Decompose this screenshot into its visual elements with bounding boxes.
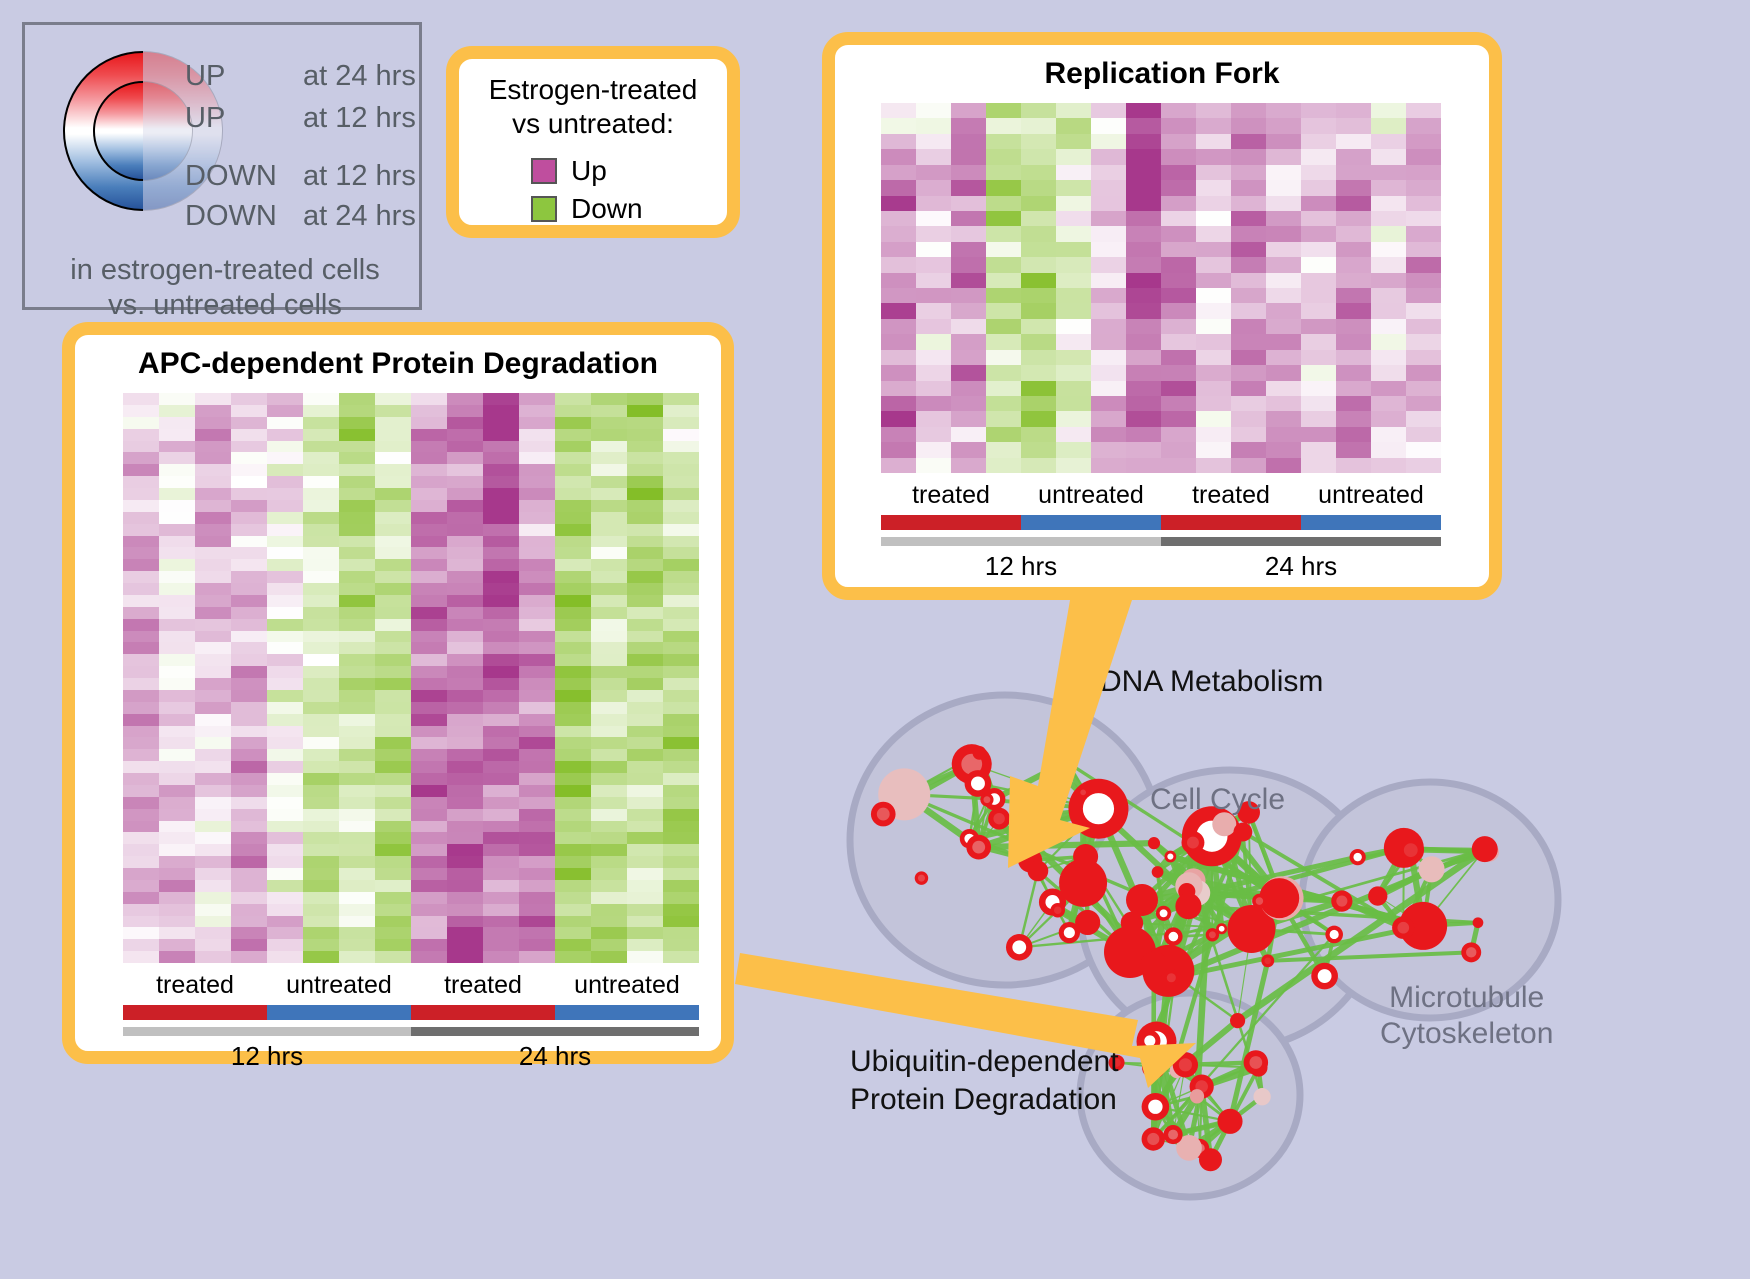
network-node: [1253, 1088, 1270, 1105]
apc-time-labels: 12 hrs 24 hrs: [123, 1035, 699, 1072]
sample-bar-untreated: [1021, 515, 1161, 530]
network-node-core: [984, 796, 991, 803]
legend-item-down: Down: [531, 193, 643, 225]
legend-title: Estrogen-treated vs untreated:: [459, 73, 727, 141]
replication-fork-time-labels: 12 hrs 24 hrs: [881, 545, 1441, 582]
network-node-core: [1256, 897, 1264, 905]
network-node: [1217, 1109, 1242, 1134]
network-node: [1073, 844, 1098, 869]
network-node-core: [1264, 957, 1271, 964]
network-node: [1148, 837, 1160, 849]
network-node-core: [1160, 909, 1168, 917]
network-node: [1199, 1148, 1222, 1171]
key-time-down-24: at 24 hrs: [303, 200, 416, 232]
network-node: [1140, 951, 1167, 978]
network-node-core: [1404, 843, 1418, 857]
network-node: [1175, 893, 1201, 919]
network-node-core: [971, 777, 985, 791]
network-node-core: [1249, 1056, 1262, 1069]
key-label-down-12: DOWN: [185, 161, 303, 191]
network-node-core: [1054, 906, 1062, 914]
network-node-core: [993, 813, 1004, 824]
cluster-label-cell-cycle: Cell Cycle: [1150, 783, 1285, 817]
network-node: [1126, 884, 1158, 916]
apc-panel-title: APC-dependent Protein Degradation: [75, 347, 721, 381]
sample-label: treated: [1161, 481, 1301, 510]
network-edge: [979, 843, 1154, 847]
apc-panel: APC-dependent Protein Degradation treate…: [62, 322, 734, 1064]
sample-bar-treated: [411, 1005, 555, 1020]
time-label-24hrs: 24 hrs: [1161, 545, 1441, 582]
key-label-up-24: UP: [185, 61, 303, 91]
network-node-core: [1179, 1058, 1192, 1071]
sample-bar-untreated: [1301, 515, 1441, 530]
network-node-core: [1219, 926, 1225, 932]
sample-label: treated: [411, 971, 555, 1000]
key-label-down-24: DOWN: [185, 201, 303, 231]
replication-fork-panel: Replication Fork treated untreated treat…: [822, 32, 1502, 600]
network-node-core: [1330, 930, 1339, 939]
network-node-core: [1012, 940, 1026, 954]
sample-label: treated: [123, 971, 267, 1000]
network-node: [1473, 917, 1484, 928]
replication-fork-sample-bars: [881, 515, 1441, 530]
network-node: [1190, 1089, 1204, 1103]
sample-bar-treated: [123, 1005, 267, 1020]
network-node-core: [1167, 973, 1176, 982]
network-node-core: [1466, 947, 1476, 957]
apc-sample-bars: [123, 1005, 699, 1020]
network-node-core: [972, 841, 985, 854]
network-node: [1233, 823, 1252, 842]
legend-item-up: Up: [531, 155, 607, 187]
apc-heatmap: [123, 393, 699, 963]
network-node-core: [1318, 969, 1332, 983]
legend-label-down: Down: [571, 193, 643, 225]
color-key-box: UPat 24 hrs UPat 12 hrs DOWNat 12 hrs DO…: [22, 22, 422, 310]
time-label-12hrs: 12 hrs: [123, 1035, 411, 1072]
network-node: [1230, 1013, 1245, 1028]
network-node-core: [1080, 790, 1086, 796]
network-node: [1075, 910, 1100, 935]
network-node-core: [1169, 932, 1179, 942]
network-node-core: [1064, 927, 1075, 938]
network-node: [1472, 836, 1498, 862]
network-node-core: [1187, 837, 1199, 849]
time-label-12hrs: 12 hrs: [881, 545, 1161, 582]
key-time-up-12: at 12 hrs: [303, 102, 416, 134]
network-node: [1028, 861, 1049, 882]
network-node: [1419, 856, 1445, 882]
replication-fork-sample-labels: treated untreated treated untreated: [881, 481, 1441, 510]
network-node-core: [1083, 793, 1114, 824]
sample-bar-treated: [881, 515, 1021, 530]
sample-label: untreated: [1021, 481, 1161, 510]
cluster-label-ubiquitin-protein-degradation: Ubiquitin-dependent Protein Degradation: [850, 1043, 1119, 1119]
network-node: [1368, 886, 1387, 905]
network-node-core: [1167, 853, 1173, 859]
legend-panel: Estrogen-treated vs untreated: Up Down: [446, 46, 740, 238]
network-node-core: [1336, 896, 1347, 907]
key-time-down-12: at 12 hrs: [303, 160, 416, 192]
network-node-core: [1209, 931, 1216, 938]
sample-bar-untreated: [555, 1005, 699, 1020]
time-label-24hrs: 24 hrs: [411, 1035, 699, 1072]
cluster-label-microtubule-cytoskeleton: Microtubule Cytoskeleton: [1380, 980, 1553, 1052]
key-row-down-24: DOWNat 24 hrs: [185, 201, 416, 231]
network-node-core: [1147, 1133, 1159, 1145]
network-node: [1152, 866, 1164, 878]
network-node: [973, 746, 987, 760]
replication-fork-title: Replication Fork: [835, 57, 1489, 91]
network-node: [1142, 1056, 1165, 1079]
sample-label: untreated: [555, 971, 699, 1000]
sample-label: treated: [881, 481, 1021, 510]
color-key-caption: in estrogen-treated cells vs. untreated …: [25, 253, 425, 323]
key-row-up-24: UPat 24 hrs: [185, 61, 416, 91]
network-node-core: [877, 808, 890, 821]
replication-fork-heatmap: [881, 103, 1441, 473]
key-row-down-12: DOWNat 12 hrs: [185, 161, 416, 191]
pathway-network-graph: [790, 600, 1750, 1279]
sample-label: untreated: [1301, 481, 1441, 510]
key-row-up-12: UPat 12 hrs: [185, 103, 416, 133]
network-node-core: [1353, 853, 1361, 861]
cluster-label-dna-metabolism: DNA Metabolism: [1100, 665, 1323, 699]
legend-label-up: Up: [571, 155, 607, 187]
apc-sample-labels: treated untreated treated untreated: [123, 971, 699, 1000]
network-node-core: [918, 875, 925, 882]
sample-label: untreated: [267, 971, 411, 1000]
sample-bar-untreated: [267, 1005, 411, 1020]
key-time-up-24: at 24 hrs: [303, 60, 416, 92]
network-node-core: [1168, 1130, 1178, 1140]
down-color-swatch: [531, 196, 557, 222]
network-node-core: [1148, 1100, 1162, 1114]
up-color-swatch: [531, 158, 557, 184]
network-node-core: [1144, 1035, 1155, 1046]
network-node: [1045, 759, 1063, 777]
key-label-up-12: UP: [185, 103, 303, 133]
sample-bar-treated: [1161, 515, 1301, 530]
network-node-core: [1397, 922, 1409, 934]
